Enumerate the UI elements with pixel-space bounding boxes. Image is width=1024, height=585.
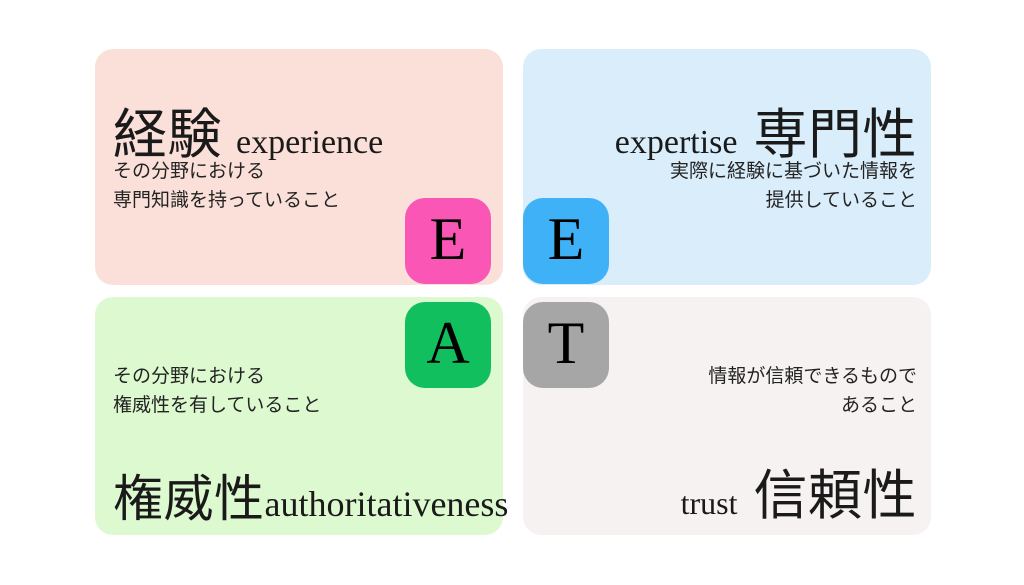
- badge-authoritativeness-a: A: [405, 302, 491, 388]
- eeat-diagram: 経験 experience その分野における 専門知識を持っていること expe…: [0, 0, 1024, 585]
- badge-authoritativeness-letter: A: [426, 313, 469, 373]
- panel-trust-heading-kanji: 信頼性: [754, 468, 918, 525]
- panel-experience-heading-kanji: 経験: [113, 107, 222, 164]
- badge-trust-t: T: [523, 302, 609, 388]
- badge-trust-letter: T: [548, 313, 585, 373]
- badge-experience-letter: E: [430, 209, 467, 269]
- badge-experience-e: E: [405, 198, 491, 284]
- panel-expertise-description: 実際に経験に基づいた情報を 提供していること: [670, 157, 917, 216]
- panel-authoritativeness-heading-romaji: authoritativeness: [265, 486, 509, 524]
- panel-expertise-heading-romaji: expertise: [615, 125, 738, 161]
- panel-experience-heading-romaji: experience: [236, 125, 383, 161]
- panel-authoritativeness-description: その分野における 権威性を有していること: [113, 362, 321, 421]
- panel-experience-heading: 経験 experience: [113, 107, 383, 164]
- panel-experience-description: その分野における 専門知識を持っていること: [113, 157, 340, 216]
- panel-expertise-heading-kanji: 専門性: [754, 107, 918, 164]
- panel-trust-description: 情報が信頼できるもので あること: [708, 362, 917, 421]
- panel-expertise-heading: expertise 専門性: [615, 107, 917, 164]
- badge-expertise-letter: E: [548, 209, 585, 269]
- badge-expertise-e: E: [523, 198, 609, 284]
- panel-trust-heading: trust 信頼性: [681, 468, 917, 525]
- panel-trust-heading-romaji: trust: [681, 487, 738, 521]
- panel-authoritativeness-heading-kanji: 権威性: [113, 473, 265, 526]
- panel-authoritativeness-heading: 権威性 authoritativeness: [113, 473, 508, 526]
